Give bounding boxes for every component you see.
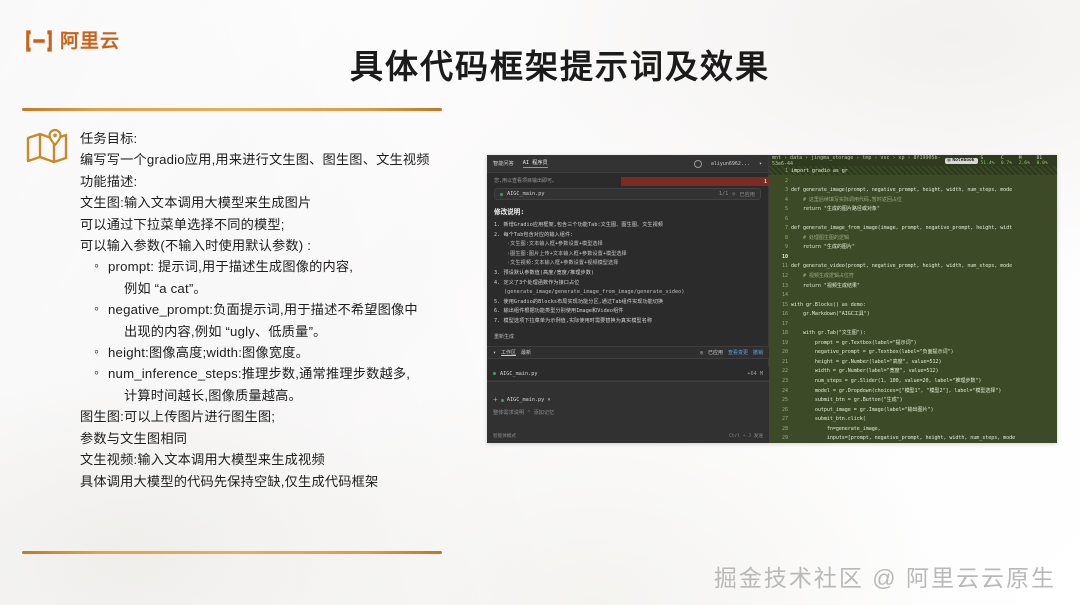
code-line: 3def generate_image(prompt, negative_pro… — [769, 186, 1057, 196]
ide-screenshot: 智能问答 AI 程序员 aliyun6962... ▾ 您,用以查看项目输出即可… — [487, 155, 1057, 443]
desc-bullet: negative_prompt:负面提示词,用于描述不希望图像中 — [80, 299, 480, 320]
chevron-down-icon[interactable]: ▾ — [493, 350, 496, 356]
line-number: 23 — [769, 377, 791, 387]
stat-c: C 0.7% — [1001, 156, 1016, 166]
stat-d1: D1 0.0% — [1037, 156, 1054, 166]
line-code: def generate_image_from_image(image, pro… — [791, 224, 1012, 234]
code-line: 28 fn=generate_image, — [769, 425, 1057, 435]
chat-list-item: 7. 模型选项下拉菜单为示例值,实际使用时需要替换为真实模型名称 — [494, 317, 761, 327]
desc-line: 参数与文生图相同 — [80, 428, 480, 449]
regenerate-button[interactable]: 重新生成 — [494, 333, 761, 340]
workspace-file-row[interactable]: AIGC_main.py +64 M — [487, 367, 769, 381]
line-number: 6 — [769, 215, 791, 225]
page-title: 具体代码框架提示词及效果 — [0, 40, 1080, 88]
chat-list-item: 2. 每个Tab包含对应的输入组件: — [494, 231, 761, 241]
line-number: 9 — [769, 243, 791, 253]
tab-ai-programmer[interactable]: AI 程序员 — [523, 159, 548, 168]
chat-list-subitem: 文生图:文本输入框+参数设置+模型选择 — [494, 240, 761, 250]
tab-qa[interactable]: 智能问答 — [493, 160, 514, 167]
code-line: 24 model = gr.Dropdown(choices=["模型1", "… — [769, 387, 1057, 397]
file-status-dot-icon — [493, 372, 496, 375]
line-number: 3 — [769, 186, 791, 196]
stat-m: M 2.6% — [1019, 156, 1034, 166]
line-number: 28 — [769, 425, 791, 435]
desc-line: 可以通过下拉菜单选择不同的模型; — [80, 214, 480, 235]
code-line: 15with gr.Blocks() as demo: — [769, 301, 1057, 311]
line-number: 21 — [769, 358, 791, 368]
stat-value: 0.7% — [1001, 161, 1012, 166]
chevron-down-icon[interactable]: ▾ — [759, 161, 762, 167]
desc-line: 图生图:可以上传图片进行图生图; — [80, 406, 480, 427]
line-code: height = gr.Number(label="高度", value=512… — [791, 358, 941, 368]
ai-chat-panel: 智能问答 AI 程序员 aliyun6962... ▾ 您,用以查看项目输出即可… — [487, 155, 769, 443]
line-number: 19 — [769, 339, 791, 349]
line-code: # 这里后续填写实际调用代码,暂时返回占位 — [791, 196, 902, 206]
file-count: 1/1 — [719, 191, 728, 197]
desc-bullet: num_inference_steps:推理步数,通常推理步数越多, — [80, 363, 480, 384]
chat-body: 您,用以查看项目输出即可。 AIGC_main.py 1/1 ◎ 已应用 修改说… — [487, 173, 768, 340]
code-line: 1import gradio as gr — [769, 167, 1057, 177]
check-circle-icon: ◎ — [732, 191, 735, 197]
composer-send-hint: Ctrl + J 发送 — [729, 433, 763, 439]
add-icon[interactable]: + — [493, 396, 498, 404]
code-line: 11def generate_video(prompt, negative_pr… — [769, 262, 1057, 272]
code-line: 4 # 这里后续填写实际调用代码,暂时返回占位 — [769, 196, 1057, 206]
watermark: 掘金技术社区 @ 阿里云云原生 — [714, 559, 1056, 593]
notebook-badge[interactable]: ▤ Notebook — [945, 158, 978, 164]
code-line: 14 — [769, 291, 1057, 301]
desc-line: 具体调用大模型的代码先保持空缺,仅生成代码框架 — [80, 471, 480, 492]
chat-list-item: 3. 预设默认参数值(高度/宽度/推理步数) — [494, 269, 761, 279]
view-changes-link[interactable]: 查看变更 — [728, 349, 748, 356]
composer-chip-label: AIGC_main.py — [507, 397, 544, 403]
user-name[interactable]: aliyun6962... — [711, 161, 750, 167]
code-line: 13 return "视频生成结果" — [769, 282, 1057, 292]
desc-line: 可以输入参数(不输入时使用默认参数) : — [80, 235, 480, 256]
line-code: return "生成的图片路径或对象" — [791, 205, 880, 215]
line-code: # 处理图生图的逻辑 — [791, 234, 849, 244]
workspace-applied: 已应用 — [708, 349, 723, 356]
chat-composer[interactable]: + AIGC_main.py × 整体需求说明 ⌃ 添加记忆 智能体模式 Ctr… — [487, 381, 769, 443]
desc-line: 编写写一个gradio应用,用来进行文生图、图生图、文生视频 — [80, 149, 480, 170]
line-number: 5 — [769, 205, 791, 215]
code-line: 17 — [769, 320, 1057, 330]
line-code: def generate_video(prompt, negative_prom… — [791, 262, 1012, 272]
desc-line: 文生图:输入文本调用大模型来生成图片 — [80, 192, 480, 213]
chat-heading: 修改说明: — [494, 206, 761, 216]
file-name: AIGC_main.py — [507, 191, 544, 197]
code-line: 23 num_steps = gr.Slider(1, 100, value=2… — [769, 377, 1057, 387]
code-line: 10 — [769, 253, 1057, 263]
file-status: 已应用 — [739, 191, 755, 198]
code-line: 20 negative_prompt = gr.Textbox(label="负… — [769, 348, 1057, 358]
desc-line: 功能描述: — [80, 171, 480, 192]
desc-bullet: prompt: 提示词,用于描述生成图像的内容, — [80, 256, 480, 277]
desc-continuation: 例如 “a cat”。 — [80, 278, 480, 299]
code-line: 2 — [769, 177, 1057, 187]
applied-file-chip[interactable]: AIGC_main.py 1/1 ◎ 已应用 — [494, 188, 761, 200]
code-line: 6 — [769, 215, 1057, 225]
code-editor-panel: mnt › data › jingma_storage › tmp › vsc … — [769, 155, 1057, 443]
file-status-dot-icon — [500, 193, 503, 196]
task-description: 任务目标: 编写写一个gradio应用,用来进行文生图、图生图、文生视频 功能描… — [80, 128, 480, 492]
code-line: 18 with gr.Tab("文生图"): — [769, 329, 1057, 339]
line-code: fn=generate_image, — [791, 425, 881, 435]
line-number: 13 — [769, 282, 791, 292]
composer-mode[interactable]: 智能体模式 — [493, 433, 516, 439]
composer-attachment-chip[interactable]: + AIGC_main.py × — [493, 396, 550, 404]
line-code: return "生成的图片" — [791, 243, 855, 253]
line-code: submit_btn = gr.Button("生成") — [791, 396, 903, 406]
line-number: 16 — [769, 310, 791, 320]
divider-bottom — [22, 551, 442, 554]
file-status-dot-icon — [501, 399, 504, 402]
editor-breadcrumb-bar: mnt › data › jingma_storage › tmp › vsc … — [769, 155, 1057, 166]
diff-stat: +64 M — [747, 371, 763, 377]
line-number: 8 — [769, 234, 791, 244]
line-number: 4 — [769, 196, 791, 206]
line-number: 10 — [769, 253, 791, 263]
line-code: submit_btn.click( — [791, 415, 866, 425]
line-number: 1 — [769, 167, 791, 177]
notebook-icon: ▤ — [948, 158, 951, 163]
chat-list-subitem: 文生视频:文本输入框+参数设置+视频模型选择 — [494, 259, 761, 269]
chat-list-detail: (generate_image/generate_image_from_imag… — [494, 288, 761, 298]
line-code: negative_prompt = gr.Textbox(label="负面提示… — [791, 348, 953, 358]
desc-continuation: 计算时间越长,图像质量越高。 — [80, 385, 480, 406]
line-code: with gr.Blocks() as demo: — [791, 301, 866, 311]
line-code: prompt = gr.Textbox(label="提示词") — [791, 339, 917, 349]
divider-top — [22, 108, 442, 111]
line-code: num_steps = gr.Slider(1, 100, value=20, … — [791, 377, 981, 387]
code-line: 5 return "生成的图片路径或对象" — [769, 205, 1057, 215]
line-code: with gr.Tab("文生图"): — [791, 329, 866, 339]
line-number: 18 — [769, 329, 791, 339]
chat-list-item: 6. 输出组件根据功能类型分别使用Image和Video组件 — [494, 307, 761, 317]
line-number: 2 — [769, 177, 791, 187]
gear-icon[interactable] — [694, 160, 702, 168]
composer-placeholder[interactable]: 整体需求说明 ⌃ 添加记忆 — [493, 409, 763, 416]
breadcrumb[interactable]: mnt › data › jingma_storage › tmp › vsc … — [772, 155, 942, 167]
line-number: 24 — [769, 387, 791, 397]
line-code: import gradio as gr — [791, 167, 848, 177]
desc-line: 任务目标: — [80, 128, 480, 149]
line-number: 14 — [769, 291, 791, 301]
code-line: 12 # 视频生成逻辑占位符 — [769, 272, 1057, 282]
chat-panel-header: 智能问答 AI 程序员 aliyun6962... ▾ — [487, 155, 768, 173]
code-line: 26 output_image = gr.Image(label="输出图片") — [769, 406, 1057, 416]
workspace-sort[interactable]: 最新 — [521, 349, 531, 356]
code-line: 9 return "生成的图片" — [769, 243, 1057, 253]
code-line: 8 # 处理图生图的逻辑 — [769, 234, 1057, 244]
notebook-label: Notebook — [952, 158, 974, 163]
line-code: return "视频生成结果" — [791, 282, 860, 292]
workspace-file-name: AIGC_main.py — [500, 371, 537, 377]
line-number: 25 — [769, 396, 791, 406]
code-line: 29 inputs=[prompt, negative_prompt, heig… — [769, 434, 1057, 443]
stat-value: 51.4% — [981, 161, 995, 166]
line-number: 22 — [769, 367, 791, 377]
change-marker: 1 — [621, 177, 769, 186]
chat-list-item: 4. 定义了3个处理函数作为接口占位 — [494, 279, 761, 289]
code-line: 21 height = gr.Number(label="高度", value=… — [769, 358, 1057, 368]
workspace-bar: ▾ 工作区 最新 ◎ 已应用 查看变更 撤销 — [487, 346, 769, 359]
map-pin-icon — [25, 128, 69, 168]
line-number: 7 — [769, 224, 791, 234]
line-code: model = gr.Dropdown(choices=["模型1", "模型2… — [791, 387, 1001, 397]
line-code: output_image = gr.Image(label="输出图片") — [791, 406, 934, 416]
code-line: 22 width = gr.Number(label="宽度", value=5… — [769, 367, 1057, 377]
line-code: # 视频生成逻辑占位符 — [791, 272, 854, 282]
line-number: 20 — [769, 348, 791, 358]
chat-list-subitem: 图生图:图片上传+文本输入框+参数设置+模型选择 — [494, 250, 761, 260]
composer-footer: 智能体模式 Ctrl + J 发送 — [493, 433, 763, 439]
line-code: def generate_image(prompt, negative_prom… — [791, 186, 1012, 196]
chat-list-item: 1. 新增Gradio应用框架,包含三个功能Tab:文生图、图生图、文生视频 — [494, 221, 761, 231]
stat-value: 0.0% — [1037, 161, 1048, 166]
line-number: 17 — [769, 320, 791, 330]
code-line: 25 submit_btn = gr.Button("生成") — [769, 396, 1057, 406]
line-number: 11 — [769, 262, 791, 272]
desc-continuation: 出现的内容,例如 “ugly、低质量”。 — [80, 321, 480, 342]
desc-line: 文生视频:输入文本调用大模型来生成视频 — [80, 449, 480, 470]
check-circle-icon: ◎ — [700, 350, 703, 356]
code-content[interactable]: → 1import gradio as gr 2 3def generate_i… — [769, 166, 1057, 443]
line-code: gr.Markdown("AIGC工具") — [791, 310, 870, 320]
line-code: width = gr.Number(label="宽度", value=512) — [791, 367, 938, 377]
line-number: 26 — [769, 406, 791, 416]
line-number: 12 — [769, 272, 791, 282]
desc-bullet: height:图像高度;width:图像宽度。 — [80, 342, 480, 363]
undo-link[interactable]: 撤销 — [753, 349, 763, 356]
code-line: 27 submit_btn.click( — [769, 415, 1057, 425]
stat-value: 2.6% — [1019, 161, 1030, 166]
line-number: 29 — [769, 434, 791, 443]
line-number: 27 — [769, 415, 791, 425]
chat-list-item: 5. 使用Gradio的Blocks布局实现功能分区,通过Tab组件实现功能切换 — [494, 298, 761, 308]
workspace-label[interactable]: 工作区 — [501, 349, 516, 356]
code-line: 16 gr.Markdown("AIGC工具") — [769, 310, 1057, 320]
code-line: 7def generate_image_from_image(image, pr… — [769, 224, 1057, 234]
close-icon[interactable]: × — [547, 397, 550, 403]
stat-s: S 51.4% — [981, 156, 998, 166]
code-line: 19 prompt = gr.Textbox(label="提示词") — [769, 339, 1057, 349]
line-code: inputs=[prompt, negative_prompt, height,… — [791, 434, 1015, 443]
line-number: 15 — [769, 301, 791, 311]
